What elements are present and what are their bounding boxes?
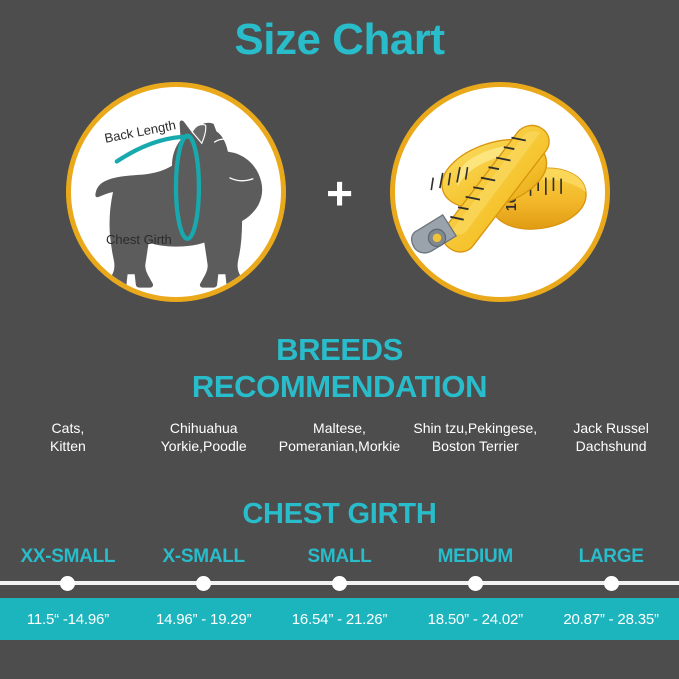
size-dot-cell	[136, 575, 272, 591]
size-dot-cell	[543, 575, 679, 591]
chest-girth-label: Chest Girth	[106, 232, 172, 247]
size-label-xx-small: XX-SMALL	[0, 546, 136, 568]
size-chart-page: Size Chart	[0, 0, 679, 679]
size-label-row: XX-SMALL X-SMALL SMALL MEDIUM LARGE	[0, 546, 679, 568]
size-dot-cell	[0, 575, 136, 591]
size-dot-icon	[332, 576, 347, 591]
measurement-x-small: 14.96” - 19.29”	[136, 611, 272, 628]
page-title: Size Chart	[0, 16, 679, 64]
breed-cell: Cats, Kitten	[0, 420, 136, 456]
size-scale-dots	[0, 575, 679, 591]
chest-girth-heading: CHEST GIRTH	[0, 498, 679, 531]
size-label-large: LARGE	[543, 546, 679, 568]
size-dot-icon	[196, 576, 211, 591]
breed-cell: Chihuahua Yorkie,Poodle	[136, 420, 272, 456]
breeds-recommendation-heading: BREEDS RECOMMENDATION	[0, 332, 679, 405]
size-dot-icon	[60, 576, 75, 591]
illustration-row: Back Length Chest Girth +	[0, 82, 679, 308]
size-dot-cell	[272, 575, 408, 591]
size-dot-cell	[407, 575, 543, 591]
breed-cell: Shin tzu,Pekingese, Boston Terrier	[407, 420, 543, 456]
size-label-small: SMALL	[272, 546, 408, 568]
measurement-small: 16.54” - 21.26”	[272, 611, 408, 628]
size-dot-icon	[468, 576, 483, 591]
size-label-medium: MEDIUM	[407, 546, 543, 568]
size-dot-icon	[604, 576, 619, 591]
breed-cell: Jack Russel Dachshund	[543, 420, 679, 456]
breeds-heading-line2: RECOMMENDATION	[0, 369, 679, 406]
breed-cell: Maltese, Pomeranian,Morkie	[272, 420, 408, 456]
breeds-row: Cats, Kitten Chihuahua Yorkie,Poodle Mal…	[0, 420, 679, 456]
breeds-heading-line1: BREEDS	[0, 332, 679, 369]
measurement-large: 20.87” - 28.35”	[543, 611, 679, 628]
tape-measure-circle: 16	[390, 82, 610, 302]
measurement-xx-small: 11.5“ -14.96”	[0, 611, 136, 628]
tape-measure-icon: 16	[395, 87, 605, 297]
size-label-x-small: X-SMALL	[136, 546, 272, 568]
measurement-medium: 18.50” - 24.02”	[407, 611, 543, 628]
measurement-band: 11.5“ -14.96” 14.96” - 19.29” 16.54” - 2…	[0, 598, 679, 640]
